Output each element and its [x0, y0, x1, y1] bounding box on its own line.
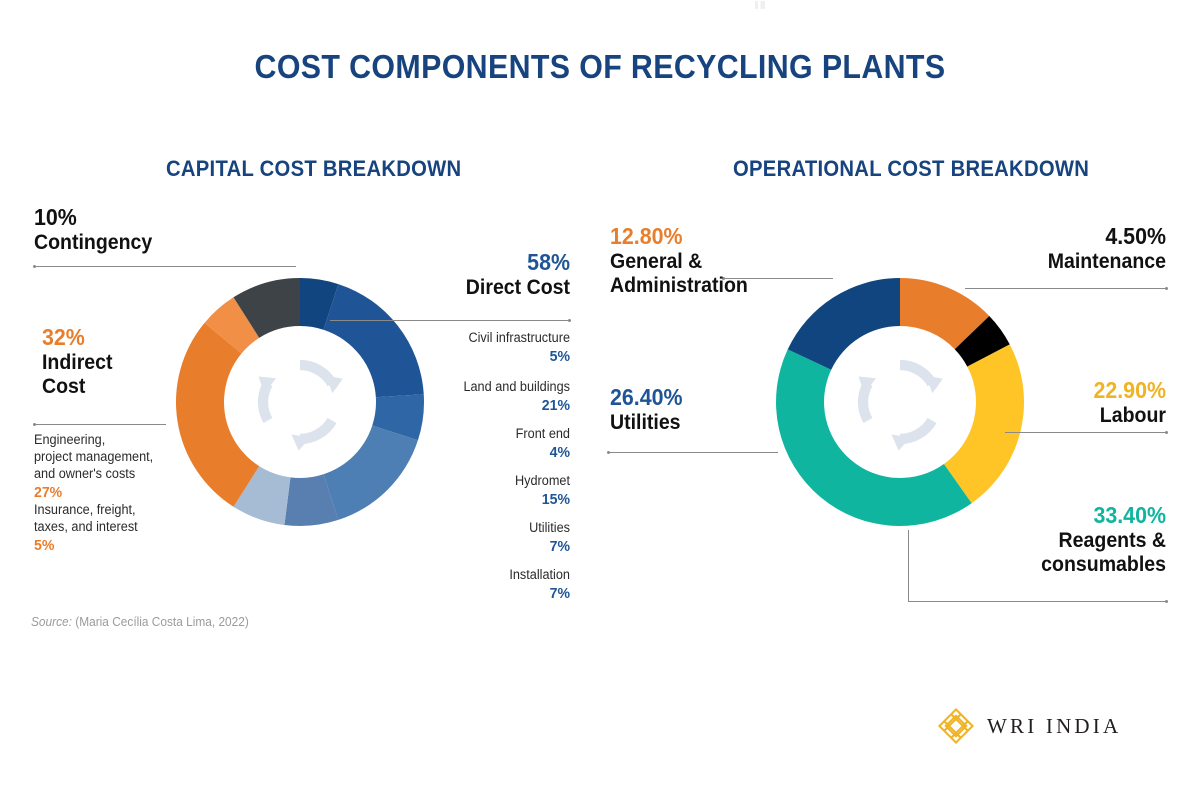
panel-title-operational: OPERATIONAL COST BREAKDOWN: [733, 156, 1089, 182]
callout-labour: 22.90% Labour: [960, 378, 1166, 428]
subitem-civil-infrastructure: Civil infrastructure 5%: [400, 330, 570, 366]
wri-india-logo: WRI INDIA: [938, 708, 1121, 744]
callout-maintenance-percent: 4.50%: [974, 224, 1166, 250]
callout-operational-utilities: 26.40% Utilities: [610, 385, 688, 435]
subitem-civil-infrastructure-label: Civil infrastructure: [410, 330, 570, 347]
leader-dot-maintenance: [1165, 287, 1168, 290]
top-artifact: [755, 1, 765, 9]
callout-contingency-label: Contingency: [34, 231, 152, 255]
subitem-installation-value: 7%: [410, 584, 570, 604]
callout-reagents-consumables: 33.40% Reagents & consumables: [940, 503, 1166, 577]
callout-direct-cost-percent: 58%: [380, 250, 570, 276]
callout-reagents-label-1: Reagents &: [956, 529, 1166, 553]
capital-cost-donut-chart: [170, 272, 430, 532]
recycling-arrows-icon: [238, 340, 362, 464]
subitem-utilities: Utilities 7%: [400, 520, 570, 556]
subitem-civil-infrastructure-value: 5%: [410, 347, 570, 367]
leader-dot-operational-utilities: [607, 451, 610, 454]
callout-labour-label: Labour: [974, 404, 1166, 428]
subitem-engineering-label-1: Engineering,: [34, 432, 184, 449]
subitem-insurance-label-2: taxes, and interest: [34, 519, 184, 536]
callout-general-administration-percent: 12.80%: [610, 224, 748, 250]
leader-line-reagents: [908, 601, 1167, 602]
source-text: (Maria Cecília Costa Lima, 2022): [75, 615, 249, 629]
callout-maintenance: 4.50% Maintenance: [960, 224, 1166, 274]
callout-direct-cost: 58% Direct Cost: [366, 250, 570, 300]
leader-dot-indirect: [33, 423, 36, 426]
callout-operational-utilities-percent: 26.40%: [610, 385, 683, 411]
leader-line-contingency: [34, 266, 296, 267]
subitem-land-and-buildings-label: Land and buildings: [410, 379, 570, 396]
subitem-engineering-label-2: project management,: [34, 449, 184, 466]
panel-title-capital: CAPITAL COST BREAKDOWN: [166, 156, 461, 182]
source-label: Source:: [31, 615, 72, 629]
subitem-utilities-value: 7%: [410, 537, 570, 557]
subitem-insurance-label-1: Insurance, freight,: [34, 502, 184, 519]
subitem-insurance-value: 5%: [34, 536, 184, 556]
callout-reagents-label-2: consumables: [956, 553, 1166, 577]
subitem-land-and-buildings: Land and buildings 21%: [400, 379, 570, 415]
leader-dot-contingency: [33, 265, 36, 268]
callout-maintenance-label: Maintenance: [974, 250, 1166, 274]
subitem-installation: Installation 7%: [400, 567, 570, 603]
leader-dot-direct: [568, 319, 571, 322]
subitem-land-and-buildings-value: 21%: [410, 396, 570, 416]
infographic-canvas: COST COMPONENTS OF RECYCLING PLANTS CAPI…: [0, 0, 1200, 800]
page-title: COST COMPONENTS OF RECYCLING PLANTS: [48, 48, 1152, 86]
leader-line-reagents-vertical: [908, 530, 909, 602]
leader-line-operational-utilities: [608, 452, 778, 453]
callout-general-administration-label-1: General &: [610, 250, 748, 274]
wri-logo-mark-icon: [938, 708, 974, 744]
wri-india-wordmark: WRI INDIA: [987, 714, 1121, 739]
leader-line-indirect: [34, 424, 166, 425]
leader-dot-reagents: [1165, 600, 1168, 603]
callout-reagents-percent: 33.40%: [956, 503, 1166, 529]
subitem-hydromet-label: Hydromet: [410, 473, 570, 490]
source-note: Source: (Maria Cecília Costa Lima, 2022): [31, 615, 249, 629]
callout-contingency-percent: 10%: [34, 205, 152, 231]
subitem-utilities-label: Utilities: [410, 520, 570, 537]
callout-operational-utilities-label: Utilities: [610, 411, 683, 435]
subitem-engineering-value: 27%: [34, 483, 184, 503]
subitem-front-end-value: 4%: [410, 443, 570, 463]
subitem-front-end-label: Front end: [410, 426, 570, 443]
callout-indirect-cost-label-2: Cost: [42, 375, 113, 399]
subitem-installation-label: Installation: [410, 567, 570, 584]
subitem-engineering-label-3: and owner's costs: [34, 466, 184, 483]
callout-direct-cost-label: Direct Cost: [380, 276, 570, 300]
callout-indirect-cost-percent: 32%: [42, 325, 113, 351]
callout-labour-percent: 22.90%: [974, 378, 1166, 404]
callout-indirect-cost-label-1: Indirect: [42, 351, 113, 375]
leader-line-maintenance: [965, 288, 1167, 289]
leader-dot-labour: [1165, 431, 1168, 434]
callout-general-administration: 12.80% General & Administration: [610, 224, 758, 298]
leader-line-labour: [1005, 432, 1167, 433]
callout-indirect-cost: 32% Indirect Cost: [42, 325, 118, 399]
callout-contingency: 10% Contingency: [34, 205, 161, 255]
subitem-hydromet-value: 15%: [410, 490, 570, 510]
subitem-insurance-freight-taxes-interest: Insurance, freight, taxes, and interest …: [34, 502, 194, 555]
subitem-engineering-pm-owners-costs: Engineering, project management, and own…: [34, 432, 194, 502]
subitem-hydromet: Hydromet 15%: [400, 473, 570, 509]
subitem-front-end: Front end 4%: [400, 426, 570, 462]
callout-general-administration-label-2: Administration: [610, 274, 748, 298]
leader-line-direct: [330, 320, 570, 321]
recycling-arrows-icon-operational: [838, 340, 962, 464]
